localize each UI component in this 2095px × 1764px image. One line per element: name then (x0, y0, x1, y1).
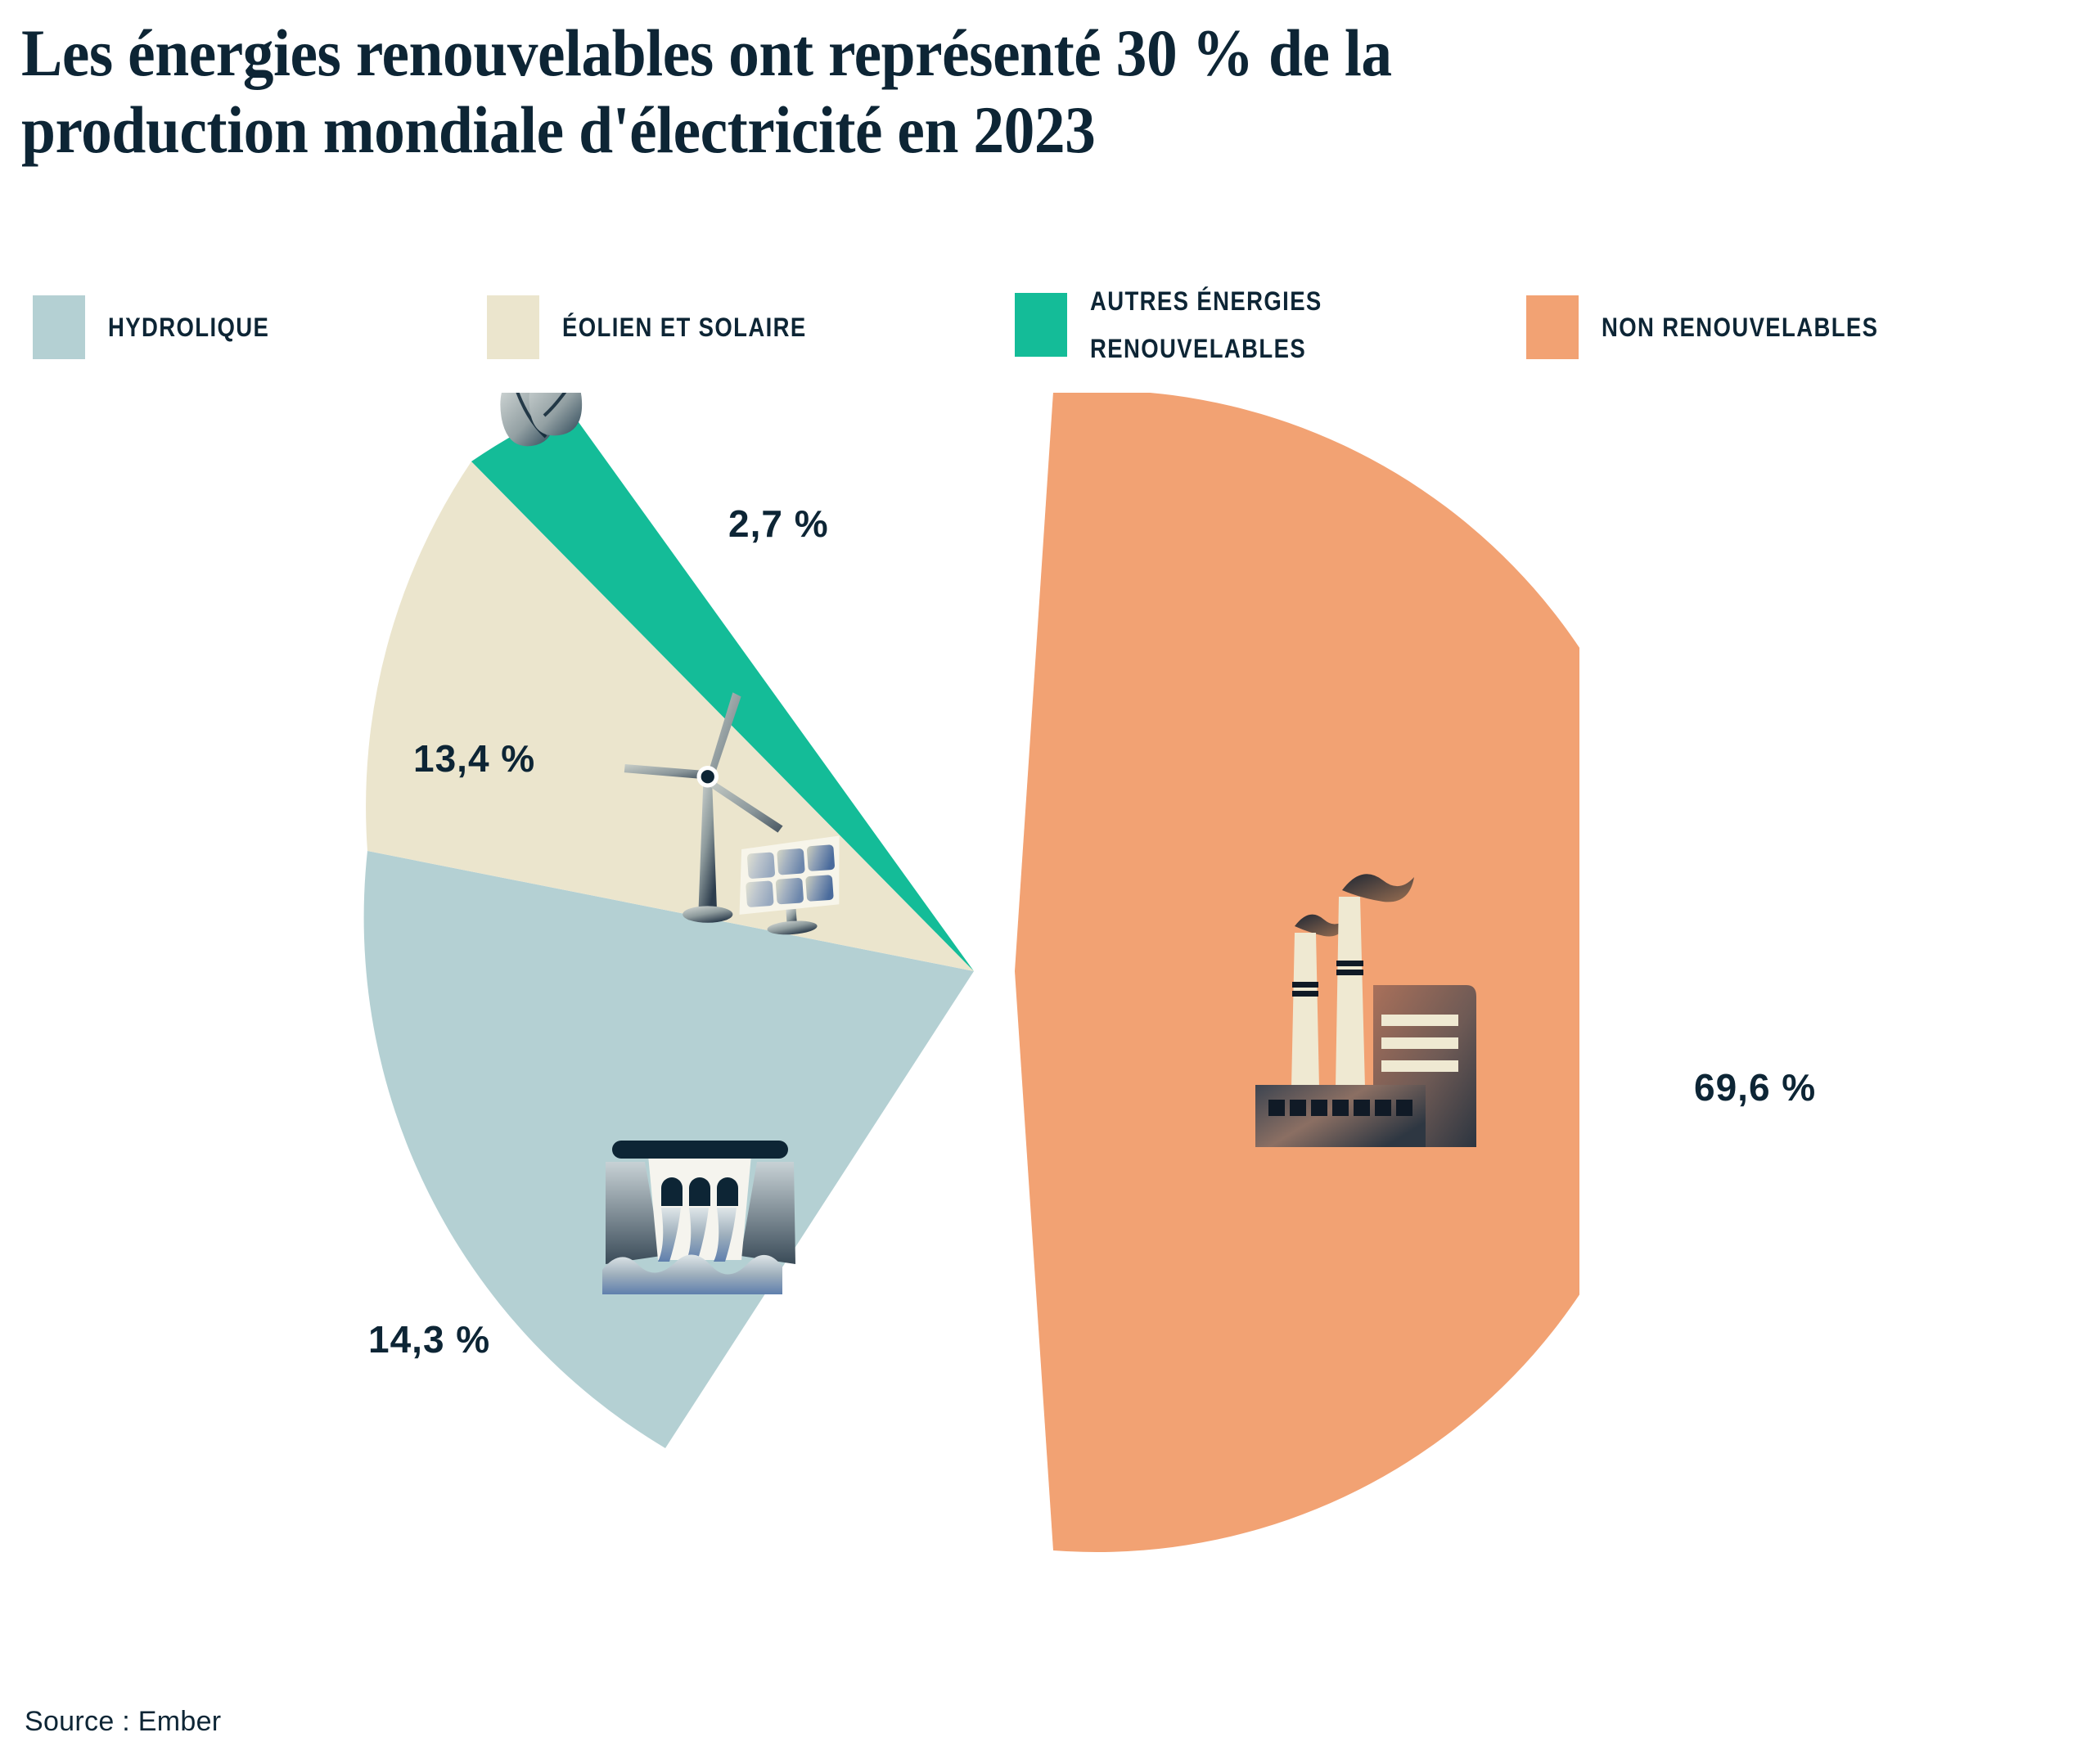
page-title: Les énergies renouvelables ont représent… (21, 15, 2075, 169)
legend-item-autres-renouvelables[interactable]: AUTRES ÉNERGIES RENOUVELABLES (1015, 277, 1360, 372)
legend-label-hydrolique: HYDROLIQUE (108, 308, 269, 346)
hydro-dam-icon (602, 1141, 795, 1294)
legend-label-eolien-solaire: ÉOLIEN ET SOLAIRE (562, 308, 807, 346)
pie-chart: 2,7 % 13,4 % 14,3 % 69,6 % (0, 393, 2095, 1645)
data-label-eolien-solaire: 13,4 % (413, 736, 535, 781)
data-label-autres-renouvelables: 2,7 % (728, 502, 829, 546)
title-line-2: production mondiale d'électricité en 202… (21, 92, 1911, 169)
legend-item-non-renouvelables[interactable]: NON RENOUVELABLES (1526, 295, 1923, 359)
legend-label-non-renouvelables: NON RENOUVELABLES (1602, 308, 1878, 346)
title-line-1: Les énergies renouvelables ont représent… (21, 15, 1911, 92)
legend-swatch-hydrolique (33, 295, 85, 359)
legend-item-eolien-solaire[interactable]: ÉOLIEN ET SOLAIRE (487, 295, 846, 359)
legend-swatch-autres-renouvelables (1015, 293, 1067, 357)
legend-swatch-eolien-solaire (487, 295, 539, 359)
infographic-page: Les énergies renouvelables ont représent… (0, 0, 2095, 1764)
chart-legend: HYDROLIQUE ÉOLIEN ET SOLAIRE AUTRES ÉNER… (33, 282, 2087, 380)
legend-swatch-non-renouvelables (1526, 295, 1579, 359)
legend-label-autres-renouvelables: AUTRES ÉNERGIES RENOUVELABLES (1090, 277, 1322, 372)
pie-chart-svg (352, 393, 1579, 1563)
legend-item-hydrolique[interactable]: HYDROLIQUE (33, 295, 295, 359)
source-note: Source : Ember (25, 1706, 221, 1738)
data-label-hydrolique: 14,3 % (368, 1317, 490, 1361)
data-label-non-renouvelables: 69,6 % (1694, 1065, 1816, 1109)
